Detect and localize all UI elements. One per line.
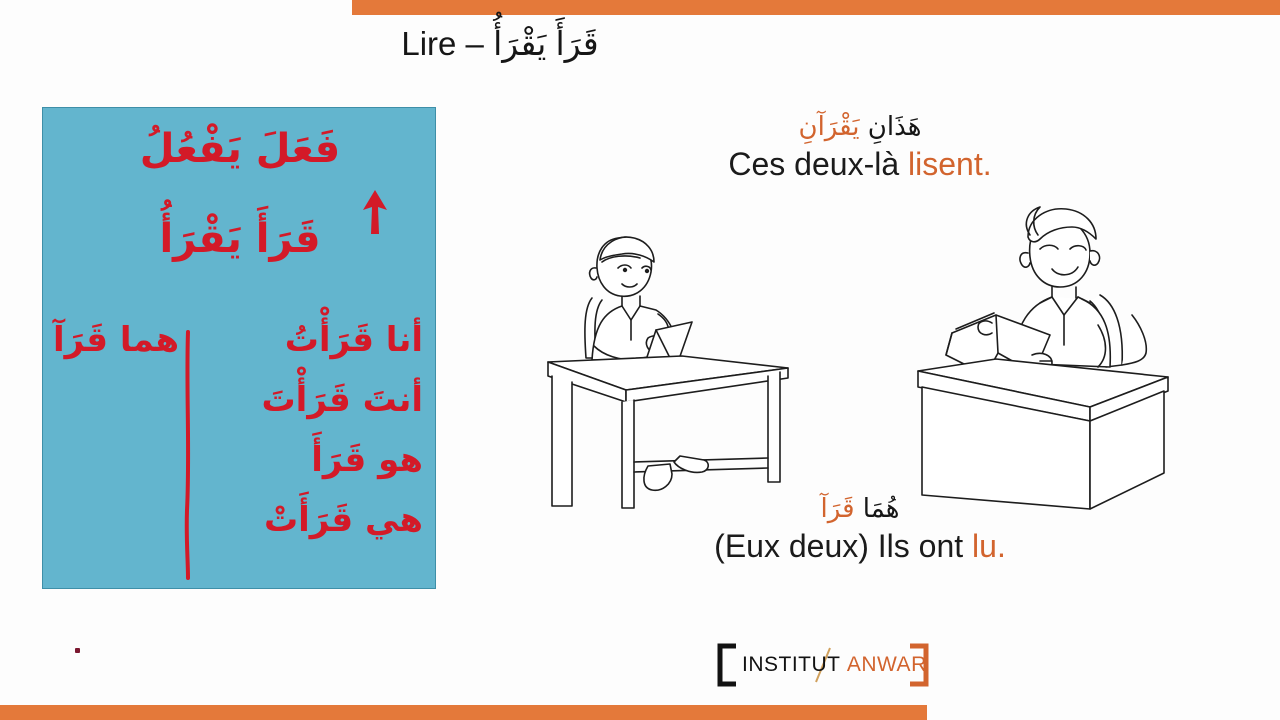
phrase-french-bottom-plain: (Eux deux) Ils ont bbox=[714, 528, 972, 564]
phrase-arabic-top: هَذَانِ يَقْرَآنِ bbox=[600, 112, 1120, 142]
vertical-stroke-icon bbox=[183, 330, 193, 580]
board-conjugation-2: أنتَ قَرَأْتَ bbox=[262, 380, 423, 420]
phrase-dual-present: هَذَانِ يَقْرَآنِ Ces deux-là lisent. bbox=[600, 112, 1120, 183]
illustration-man-reading-at-desk bbox=[900, 195, 1190, 510]
up-arrow-icon bbox=[358, 188, 392, 236]
title-separator: – bbox=[456, 25, 493, 62]
board-pattern-row: فَعَلَ يَفْعُلُ bbox=[43, 126, 436, 172]
illustration-boy-at-desk bbox=[530, 210, 810, 510]
board-dual-form: هما قَرَآ bbox=[53, 320, 179, 360]
title-arabic: قَرَأَ يَقْرَأُ bbox=[493, 25, 599, 62]
logo-anwar-text: ANWAR bbox=[847, 653, 927, 676]
logo-wordmark: INSTITUT/ANWAR bbox=[742, 650, 908, 680]
phrase-french-top-highlight: lisent. bbox=[908, 146, 992, 182]
logo-institut-text: INSTITUT bbox=[742, 653, 841, 676]
phrase-french-top-plain: Ces deux-là bbox=[728, 146, 908, 182]
conjugation-board: فَعَلَ يَفْعُلُ قَرَأَ يَقْرَأُ أنا قَرَ… bbox=[42, 107, 436, 589]
phrase-arabic-bottom-plain: هُمَا bbox=[855, 494, 900, 524]
top-accent-bar bbox=[352, 0, 1280, 15]
phrase-french-top: Ces deux-là lisent. bbox=[600, 146, 1120, 183]
board-conjugation-3: هو قَرَأَ bbox=[311, 440, 423, 480]
phrase-arabic-top-highlight: يَقْرَآنِ bbox=[798, 112, 859, 142]
board-conjugation-4: هي قَرَأَتْ bbox=[264, 500, 423, 540]
page-title: قَرَأَ يَقْرَأُ – Lire bbox=[0, 24, 1000, 63]
bottom-accent-bar bbox=[0, 705, 927, 720]
board-conjugation-1: أنا قَرَأْتُ bbox=[285, 320, 423, 360]
phrase-arabic-top-plain: هَذَانِ bbox=[860, 112, 922, 142]
title-latin: Lire bbox=[401, 25, 456, 62]
stray-dot-mark bbox=[75, 648, 80, 653]
phrase-french-bottom-highlight: lu. bbox=[972, 528, 1006, 564]
institut-anwar-logo: INSTITUT/ANWAR bbox=[712, 640, 934, 690]
slide-canvas: قَرَأَ يَقْرَأُ – Lire فَعَلَ يَفْعُلُ ق… bbox=[0, 0, 1280, 720]
phrase-arabic-bottom-highlight: قَرَآ bbox=[821, 494, 855, 524]
phrase-french-bottom: (Eux deux) Ils ont lu. bbox=[600, 528, 1120, 565]
